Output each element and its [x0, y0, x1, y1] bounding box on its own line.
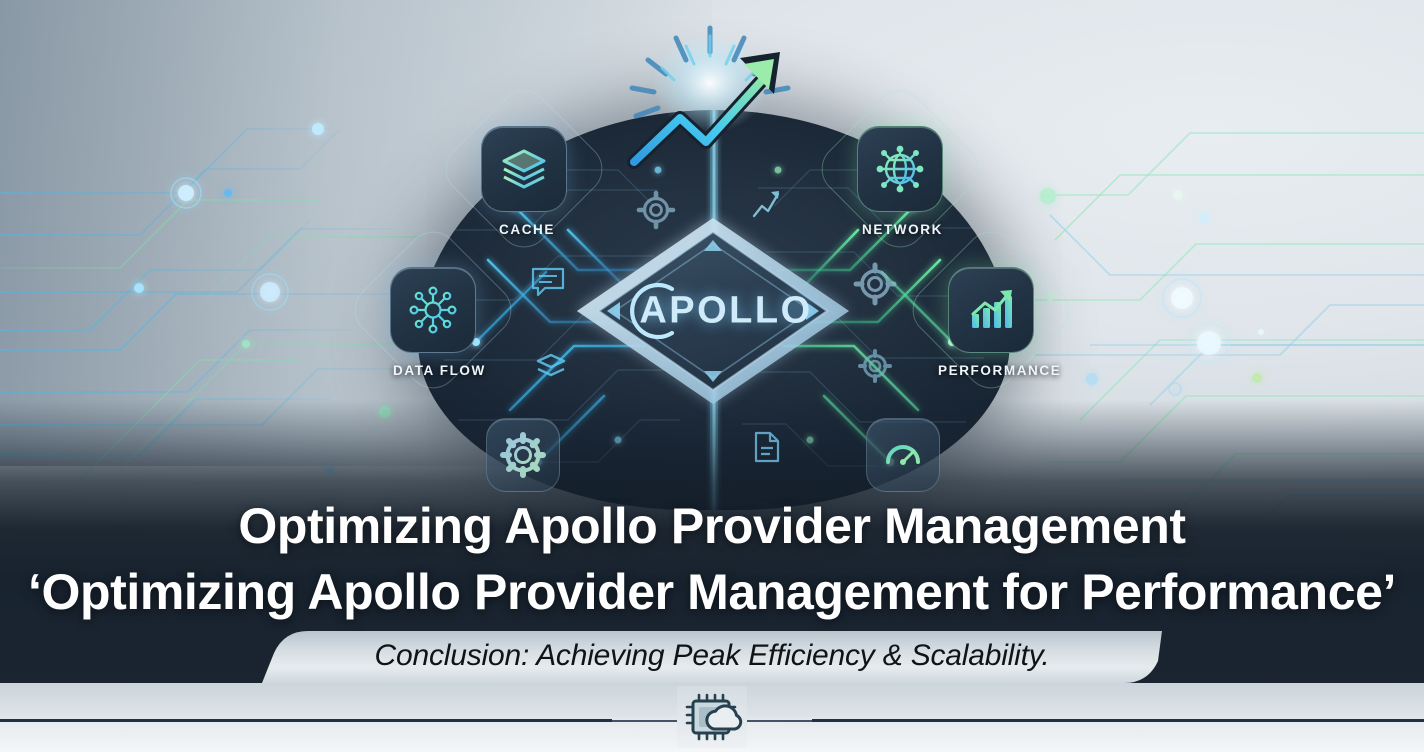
subtitle-banner: Conclusion: Achieving Peak Efficiency & … [262, 631, 1162, 683]
footer-bar [0, 683, 1424, 752]
node-label-data-flow: DATA FLOW [393, 363, 486, 378]
chat-bubble-icon [530, 265, 566, 299]
node-network[interactable]: NETWORK [857, 126, 943, 212]
node-label-cache: CACHE [499, 222, 555, 237]
gear-icon [486, 418, 560, 492]
node-tile-cache[interactable] [481, 126, 567, 212]
bar-chart-arrow-icon [965, 284, 1017, 336]
node-data-flow[interactable]: DATA FLOW [390, 267, 476, 353]
node-tile-performance[interactable] [948, 267, 1034, 353]
globe-network-icon [874, 143, 926, 195]
page-title-secondary: ‘Optimizing Apollo Provider Management f… [0, 562, 1424, 622]
node-tile-network[interactable] [857, 126, 943, 212]
cpu-cloud-icon [677, 686, 747, 748]
gear-small-icon [857, 348, 893, 384]
core-label: APOLLO [575, 290, 851, 333]
core-apollo-node[interactable]: APOLLO [575, 216, 851, 406]
hub-nodes-icon [407, 284, 459, 336]
footer-line-left [0, 719, 612, 722]
subtitle-text: Conclusion: Achieving Peak Efficiency & … [262, 631, 1162, 683]
layers-icon [534, 352, 568, 382]
footer-line-right [812, 719, 1424, 722]
node-label-network: NETWORK [862, 222, 943, 237]
node-performance[interactable]: PERFORMANCE [948, 267, 1034, 353]
hero-banner: CACHE [0, 0, 1424, 752]
node-cache[interactable]: CACHE [481, 126, 567, 212]
title-block: Optimizing Apollo Provider Management ‘O… [0, 498, 1424, 622]
gear-small-icon [853, 262, 897, 306]
database-stack-icon [498, 143, 550, 195]
speedometer-icon [866, 418, 940, 492]
node-tile-data-flow[interactable] [390, 267, 476, 353]
node-label-performance: PERFORMANCE [938, 363, 1061, 378]
growth-arrow-burst-icon [614, 22, 824, 182]
document-icon [751, 430, 783, 464]
page-title-primary: Optimizing Apollo Provider Management [0, 498, 1424, 554]
